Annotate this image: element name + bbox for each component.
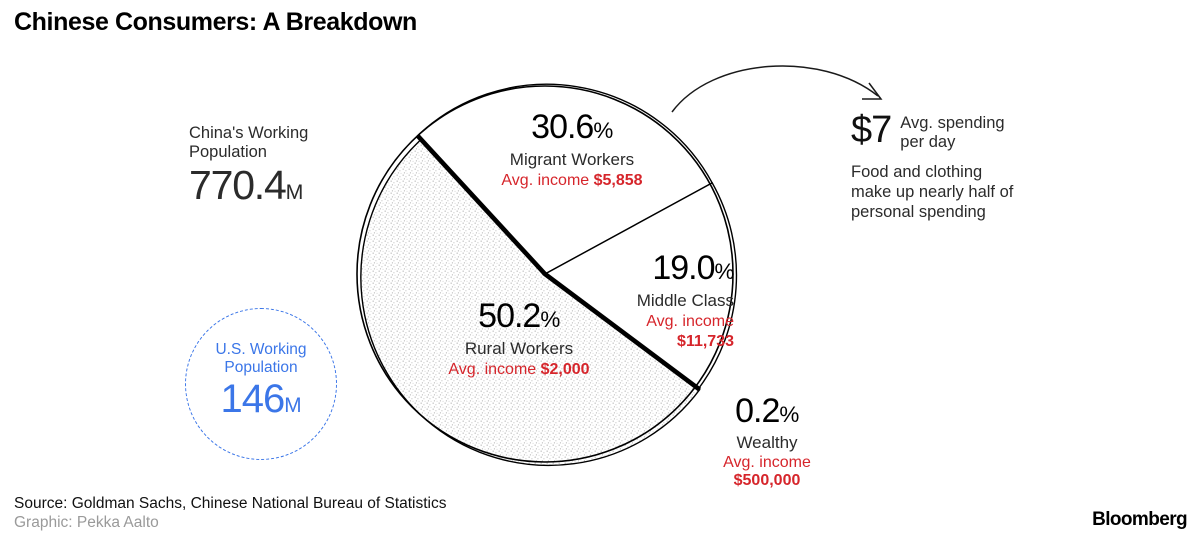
pie-chart xyxy=(0,0,1200,536)
graphic-credit: Graphic: Pekka Aalto xyxy=(14,513,159,532)
spending-caption-line1: Avg. spending xyxy=(900,114,1004,133)
spending-detail-line2: make up nearly half of xyxy=(851,182,1066,202)
middle-income-label: Avg. income xyxy=(604,312,734,331)
bloomberg-logo: Bloomberg xyxy=(1092,509,1187,531)
migrant-percent: 30.6% xyxy=(487,110,657,148)
percent-sign-icon: % xyxy=(779,402,798,427)
wealthy-income-label: Avg. income xyxy=(712,454,822,471)
rural-income: Avg. income $2,000 xyxy=(424,360,614,379)
migrant-income-value: $5,858 xyxy=(594,172,643,189)
source-note: Source: Goldman Sachs, Chinese National … xyxy=(14,494,447,513)
rural-income-label: Avg. income xyxy=(448,361,536,378)
percent-sign-icon: % xyxy=(540,307,559,332)
china-population-label-line1: China's Working xyxy=(189,124,379,143)
middle-income-amount: $11,733 xyxy=(677,333,734,350)
percent-sign-icon: % xyxy=(593,118,612,143)
migrant-income: Avg. income $5,858 xyxy=(487,171,657,190)
pie-label-rural-workers: 50.2% Rural Workers Avg. income $2,000 xyxy=(424,299,614,379)
pie-label-wealthy: 0.2% Wealthy Avg. income $500,000 xyxy=(712,394,822,489)
spending-amount: $7 xyxy=(851,111,891,149)
rural-name: Rural Workers xyxy=(424,339,614,359)
us-population-number: 146 xyxy=(220,377,284,421)
china-population-label-line2: Population xyxy=(189,143,379,162)
us-population-label-line2: Population xyxy=(224,359,297,377)
wealthy-income-value: $500,000 xyxy=(712,472,822,489)
spending-detail-line1: Food and clothing xyxy=(851,162,1066,182)
pie-label-middle-class: 19.0% Middle Class Avg. income $11,733 xyxy=(604,251,734,351)
wealthy-income-amount: $500,000 xyxy=(734,472,801,489)
spending-detail-line3: personal spending xyxy=(851,202,1066,222)
us-population-value: 146M xyxy=(220,378,301,427)
rural-percent-value: 50.2 xyxy=(478,297,540,335)
middle-percent-value: 19.0 xyxy=(652,249,714,287)
pie-label-migrant-workers: 30.6% Migrant Workers Avg. income $5,858 xyxy=(487,110,657,190)
us-population-label-line1: U.S. Working xyxy=(215,341,306,359)
china-population-value: 770.4M xyxy=(189,163,379,215)
middle-percent: 19.0% xyxy=(604,251,734,289)
migrant-percent-value: 30.6 xyxy=(531,108,593,146)
page-title: Chinese Consumers: A Breakdown xyxy=(14,8,417,37)
wealthy-name: Wealthy xyxy=(712,433,822,453)
migrant-income-label: Avg. income xyxy=(501,172,589,189)
percent-sign-icon: % xyxy=(715,259,734,284)
middle-name: Middle Class xyxy=(604,291,734,311)
spending-callout: $7 Avg. spending per day Food and clothi… xyxy=(851,111,1066,222)
rural-percent: 50.2% xyxy=(424,299,614,337)
wealthy-percent: 0.2% xyxy=(712,394,822,432)
spending-detail: Food and clothing make up nearly half of… xyxy=(851,162,1066,222)
china-population-number: 770.4 xyxy=(189,162,286,208)
us-population-unit: M xyxy=(284,394,301,417)
us-population-callout: U.S. Working Population 146M xyxy=(185,308,337,460)
spending-caption: Avg. spending per day xyxy=(900,111,1004,152)
migrant-name: Migrant Workers xyxy=(487,150,657,170)
annotation-arrow xyxy=(672,66,878,112)
middle-income-value: $11,733 xyxy=(604,332,734,351)
china-population-callout: China's Working Population 770.4M xyxy=(189,124,379,215)
china-population-unit: M xyxy=(286,180,304,204)
annotation-arrowhead xyxy=(862,83,881,99)
rural-income-value: $2,000 xyxy=(541,361,590,378)
spending-headline: $7 Avg. spending per day xyxy=(851,111,1066,152)
wealthy-percent-value: 0.2 xyxy=(735,392,779,430)
spending-caption-line2: per day xyxy=(900,133,1004,152)
